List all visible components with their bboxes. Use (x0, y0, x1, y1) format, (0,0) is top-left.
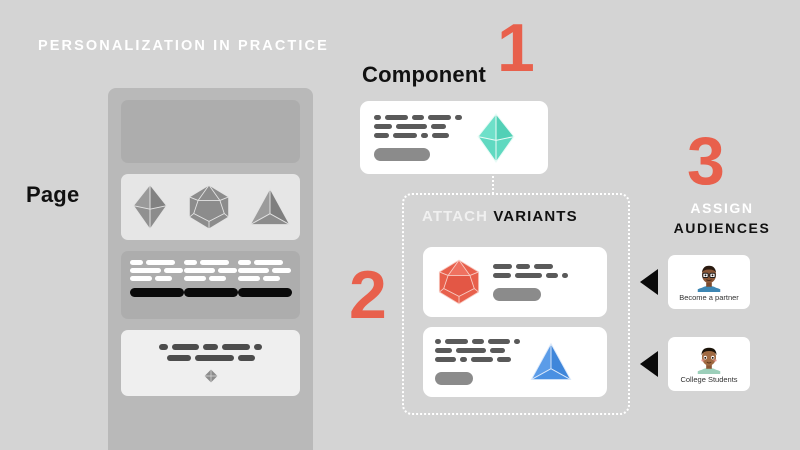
variants-title-variants: VARIANTS (493, 208, 577, 225)
mock-shapes-row (121, 174, 300, 240)
variants-title-attach: ATTACH (422, 208, 488, 225)
component-card-text (374, 115, 462, 161)
diamond-gray-icon (204, 369, 218, 383)
variant-card-2-button[interactable] (435, 372, 473, 385)
mock-column (184, 260, 238, 310)
step-number-2: 2 (349, 261, 386, 329)
icosahedron-gray-icon (185, 183, 233, 231)
icosahedron-coral-icon (435, 258, 483, 306)
headline: PERSONALIZATION IN PRACTICE (38, 38, 329, 54)
audience-card-label: Become a partner (679, 293, 739, 302)
mock-cta-row (121, 330, 300, 396)
octahedron-teal-icon (472, 112, 520, 164)
audience-card-college-students[interactable]: College Students (668, 337, 750, 391)
variant-card-1-button[interactable] (493, 288, 541, 301)
mock-cta-line (167, 355, 255, 361)
variant-card-2[interactable] (423, 327, 607, 397)
audience-card-become-a-partner[interactable]: Become a partner (668, 255, 750, 309)
variant-card-1-text (493, 264, 568, 301)
page-label: Page (26, 182, 79, 208)
component-to-variants-connector (492, 172, 494, 194)
component-card[interactable] (360, 101, 548, 174)
mock-hero-banner (121, 100, 300, 163)
audience-card-label: College Students (680, 375, 737, 384)
arrow-left-icon (640, 351, 658, 377)
tetrahedron-blue-icon (528, 340, 574, 384)
man-with-glasses-avatar (694, 262, 724, 292)
component-card-button[interactable] (374, 148, 430, 161)
mock-three-column-row (121, 251, 300, 319)
mock-cta-line (159, 344, 262, 350)
page-mockup (108, 88, 313, 450)
tetrahedron-gray-icon (247, 185, 293, 229)
step-number-1: 1 (497, 14, 534, 82)
mock-column (238, 260, 292, 310)
assign-title-assign: ASSIGN (662, 198, 782, 218)
variant-card-1[interactable] (423, 247, 607, 317)
arrow-left-icon (640, 269, 658, 295)
assign-audiences-title: ASSIGN AUDIENCES (662, 198, 782, 239)
variants-title: ATTACH VARIANTS (422, 208, 578, 225)
variant-card-2-text (435, 339, 520, 385)
step-number-3: 3 (687, 127, 724, 195)
assign-title-audiences: AUDIENCES (662, 218, 782, 238)
mock-column (130, 260, 184, 310)
woman-avatar (694, 344, 724, 374)
octahedron-gray-icon (128, 183, 172, 231)
infographic-canvas: PERSONALIZATION IN PRACTICE Page (0, 0, 800, 450)
component-label: Component (362, 62, 486, 88)
